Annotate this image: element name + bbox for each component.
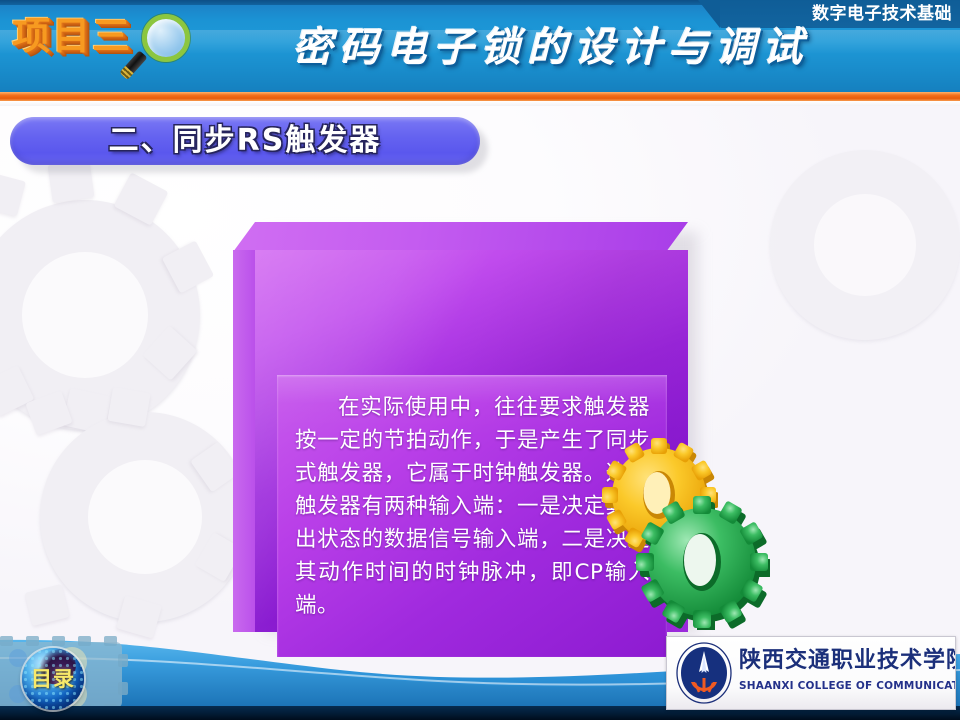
page-title: 密码电子锁的设计与调试 <box>246 22 856 74</box>
college-name-en: SHAANXI COLLEGE OF COMMUNICATION TECHNOL… <box>739 679 956 693</box>
section-heading[interactable]: 二、同步RS触发器 <box>10 117 480 167</box>
section-heading-label: 二、同步RS触发器 <box>10 117 480 165</box>
gear-green-icon <box>634 494 770 630</box>
watermark-gear-tooth <box>107 387 150 427</box>
college-logo: 陕西交通职业技术学院 SHAANXI COLLEGE OF COMMUNICAT… <box>666 636 956 710</box>
content-block-top-face <box>233 222 688 252</box>
magnifier-icon <box>132 14 198 82</box>
table-of-contents-label: 目录 <box>22 648 84 710</box>
header-white-stripe <box>0 101 960 106</box>
college-emblem-icon <box>675 642 733 704</box>
slide-header: 数字电子技术基础 项目三 密码电子锁的设计与调试 <box>0 0 960 92</box>
content-block-left-face <box>233 250 257 632</box>
college-name-cn: 陕西交通职业技术学院 <box>739 643 956 677</box>
watermark-gear-icon <box>770 150 960 340</box>
header-orange-stripe <box>0 92 960 101</box>
slide-canvas: 数字电子技术基础 项目三 密码电子锁的设计与调试 二、同步RS触发器 在实际使用… <box>0 0 960 720</box>
project-badge: 项目三 <box>12 8 132 64</box>
body-paragraph: 在实际使用中，往往要求触发器按一定的节拍动作，于是产生了同步式触发器，它属于时钟… <box>295 391 650 622</box>
content-block: 在实际使用中，往往要求触发器按一定的节拍动作，于是产生了同步式触发器，它属于时钟… <box>233 222 688 632</box>
table-of-contents-button[interactable]: 目录 <box>22 648 84 710</box>
